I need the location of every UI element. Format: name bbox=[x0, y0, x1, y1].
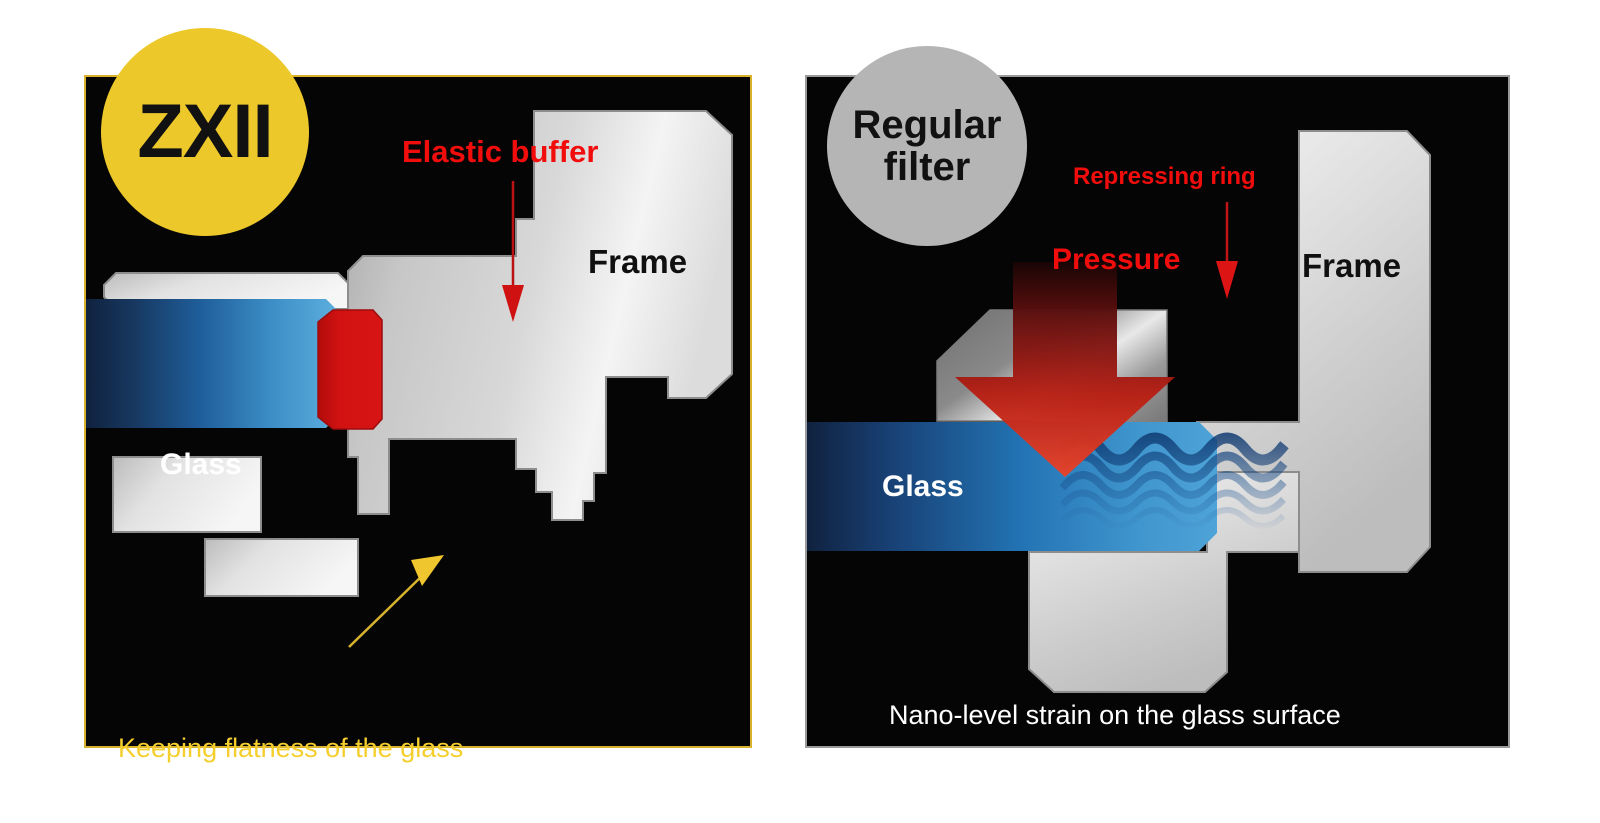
label-frame-right: Frame bbox=[1302, 247, 1401, 285]
caption-right: Nano-level strain on the glass surface bbox=[889, 700, 1341, 731]
frame-body-shape bbox=[348, 111, 732, 520]
badge-zxii-label: ZXII bbox=[137, 92, 272, 172]
diagram-root: ZXII Regular filter Elastic buffer Frame… bbox=[0, 0, 1600, 823]
label-glass-right: Glass bbox=[882, 470, 964, 504]
badge-regular-line1: Regular bbox=[853, 103, 1002, 147]
badge-regular-line2: filter bbox=[884, 145, 971, 189]
frame-foot-shape bbox=[205, 539, 358, 596]
elastic-buffer-shape bbox=[318, 310, 382, 429]
badge-zxii: ZXII bbox=[101, 28, 309, 236]
label-frame-left: Frame bbox=[588, 243, 687, 281]
label-glass-left: Glass bbox=[160, 448, 242, 482]
label-elastic-buffer: Elastic buffer bbox=[402, 134, 598, 170]
caption-left: Keeping flatness of the glass because of… bbox=[118, 658, 549, 823]
label-pressure: Pressure bbox=[1052, 243, 1180, 277]
badge-regular-filter-label: Regular filter bbox=[853, 104, 1002, 188]
label-repressing-ring: Repressing ring bbox=[1073, 163, 1256, 191]
badge-regular-filter: Regular filter bbox=[827, 46, 1027, 246]
caption-left-line1: Keeping flatness of the glass bbox=[118, 730, 549, 766]
glass-plate-shape bbox=[86, 299, 344, 428]
